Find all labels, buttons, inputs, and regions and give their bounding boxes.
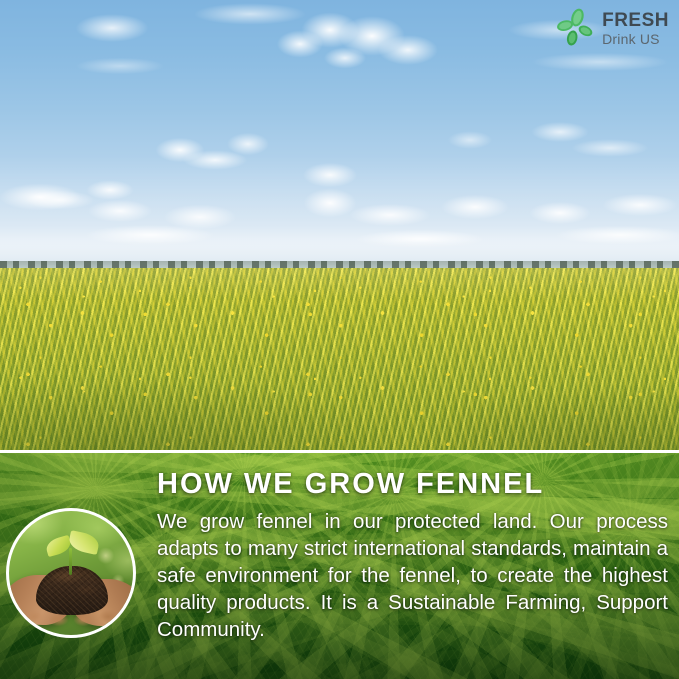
brand-wordmark: FRESH Drink US xyxy=(602,11,669,46)
hero-field-photo: FRESH Drink US xyxy=(0,0,679,450)
field-shading-overlay xyxy=(0,268,679,450)
brand-name-secondary: Drink US xyxy=(602,32,669,46)
section-divider xyxy=(0,450,679,453)
info-text-block: HOW WE GROW FENNEL We grow fennel in our… xyxy=(157,470,668,643)
seedling-circle-photo xyxy=(6,508,136,638)
section-body-text: We grow fennel in our protected land. Ou… xyxy=(157,508,668,643)
fingertips xyxy=(19,603,123,630)
section-heading: HOW WE GROW FENNEL xyxy=(157,470,668,499)
brand-logo[interactable]: FRESH Drink US xyxy=(557,8,669,48)
seedling-stem xyxy=(69,548,72,575)
leaf-cluster-icon xyxy=(557,8,595,48)
brand-name-primary: FRESH xyxy=(602,11,669,30)
product-infographic-poster: FRESH Drink US HOW WE GROW FENNEL We gro… xyxy=(0,0,679,679)
